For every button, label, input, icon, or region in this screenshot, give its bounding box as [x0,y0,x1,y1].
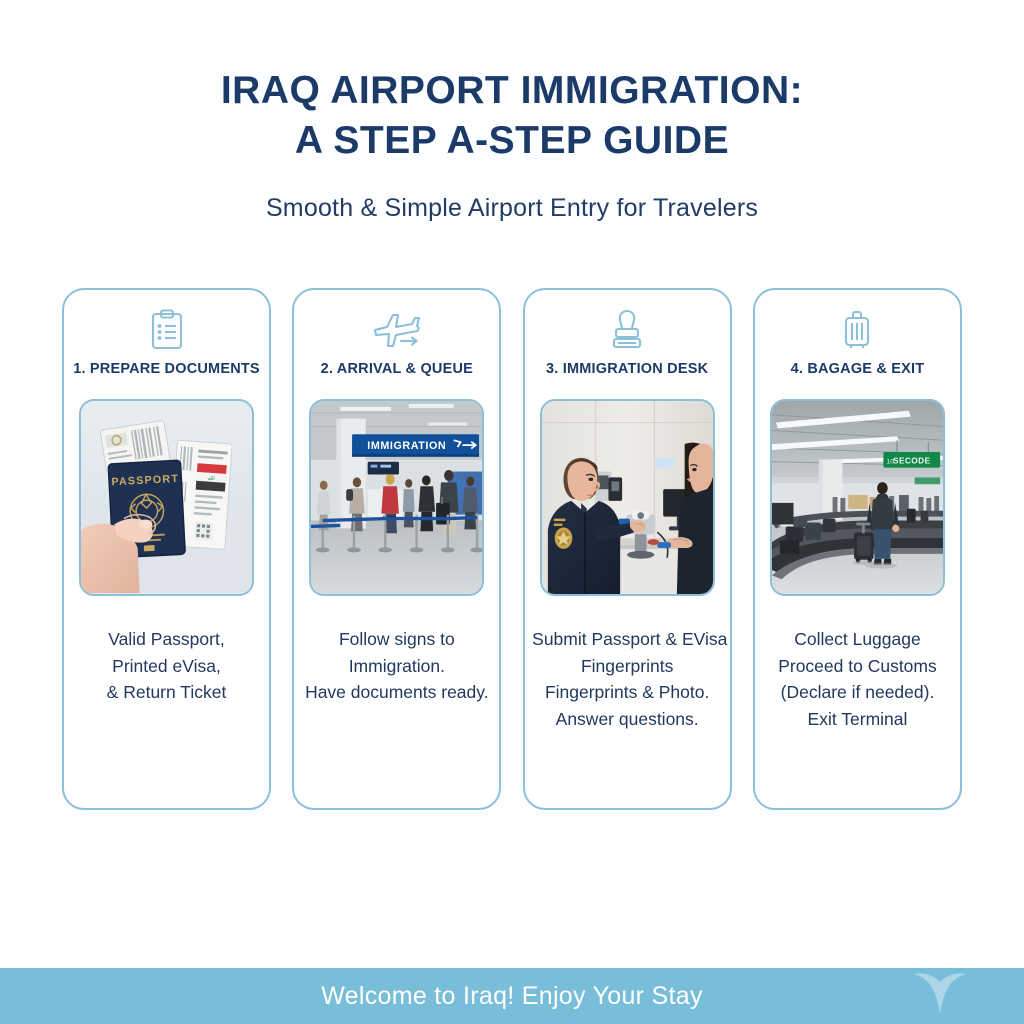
step-card-row: 1. PREPARE DOCUMENTS [62,288,962,810]
step-card-arrival-queue[interactable]: 2. ARRIVAL & QUEUE [292,288,501,810]
step-card-heading: 1. PREPARE DOCUMENTS [73,361,260,377]
photo-immigration-officer-desk [540,399,715,596]
description-line: Exit Terminal [762,706,952,733]
description-line: Immigration. [302,653,492,680]
step-card-heading: 2. ARRIVAL & QUEUE [321,361,473,377]
description-line: Fingerprints [532,653,722,680]
svg-text:IMMIGRATION: IMMIGRATION [368,440,447,452]
step-card-bagage-exit[interactable]: 4. BAGAGE & EXIT [753,288,962,810]
description-line: Valid Passport, [72,626,262,653]
clipboard-checklist-icon [148,308,186,352]
description-line: Submit Passport & EVisa [532,626,722,653]
description-line: Proceed to Customs [762,653,952,680]
step-card-immigration-desk[interactable]: 3. IMMIGRATION DESK [523,288,732,810]
description-line: (Declare if needed). [762,679,952,706]
photo-immigration-sign-queue: IMMIGRATION [309,399,484,596]
step-card-description: Collect Luggage Proceed to Customs (Decl… [762,626,952,732]
infographic-header: IRAQ AIRPORT IMMIGRATION: A STEP A-STEP … [0,0,1024,223]
svg-text:10: 10 [886,459,894,466]
description-line: Have documents ready. [302,679,492,706]
page-subtitle: Smooth & Simple Airport Entry for Travel… [0,194,1024,223]
description-line: Collect Luggage [762,626,952,653]
description-line: & Return Ticket [72,679,262,706]
photo-baggage-claim-exit: SECODE 10 [770,399,945,596]
diamond-watermark-icon [912,968,968,1016]
description-line: Answer questions. [532,706,722,733]
suitcase-icon [840,308,874,352]
page-title-line-2: A STEP A-STEP GUIDE [0,116,1024,166]
svg-text:الله: الله [207,476,214,482]
page-title: IRAQ AIRPORT IMMIGRATION: A STEP A-STEP … [0,66,1024,166]
footer-message: Welcome to Iraq! Enjoy Your Stay [321,982,703,1011]
step-card-heading: 4. BAGAGE & EXIT [791,361,925,377]
step-card-prepare-documents[interactable]: 1. PREPARE DOCUMENTS [62,288,271,810]
description-line: Fingerprints & Photo. [532,679,722,706]
description-line: Printed eVisa, [72,653,262,680]
step-card-heading: 3. IMMIGRATION DESK [546,361,708,377]
step-card-description: Submit Passport & EVisa Fingerprints Fin… [532,626,722,732]
description-line: Follow signs to [302,626,492,653]
svg-text:SECODE: SECODE [893,456,930,466]
step-card-description: Follow signs to Immigration. Have docume… [302,626,492,706]
rubber-stamp-icon [610,308,644,352]
step-card-description: Valid Passport, Printed eVisa, & Return … [72,626,262,706]
airplane-icon [371,308,423,352]
footer-bar: Welcome to Iraq! Enjoy Your Stay [0,968,1024,1024]
photo-hand-holding-passport: الله [79,399,254,596]
page-title-line-1: IRAQ AIRPORT IMMIGRATION: [0,66,1024,116]
